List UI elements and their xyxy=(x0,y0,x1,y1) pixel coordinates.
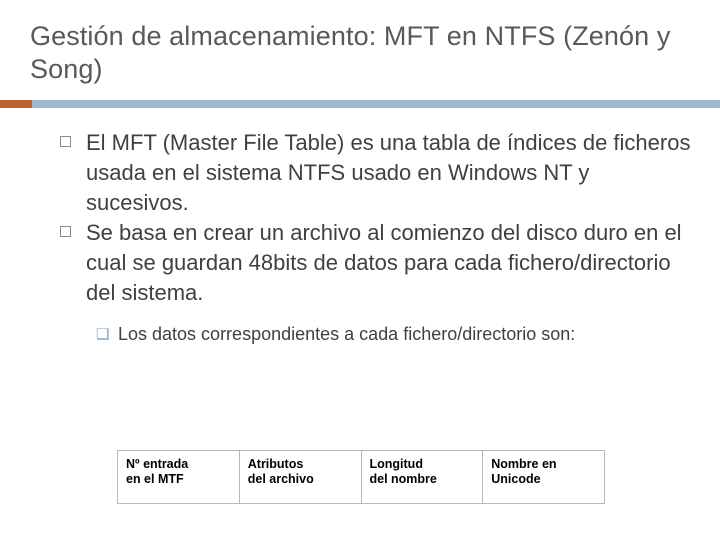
mft-entry-table: Nº entrada en el MTF Atributos del archi… xyxy=(117,450,605,504)
divider-accent-block xyxy=(0,100,32,108)
divider-line xyxy=(32,100,720,108)
divider xyxy=(0,100,720,108)
body-content: El MFT (Master File Table) es una tabla … xyxy=(30,128,695,347)
table-cell-attributes: Atributos del archivo xyxy=(239,451,361,504)
square-outline-bullet-icon xyxy=(60,136,71,147)
page-title: Gestión de almacenamiento: MFT en NTFS (… xyxy=(30,20,680,86)
list-item-text: Se basa en crear un archivo al comienzo … xyxy=(86,220,682,305)
list-item: Se basa en crear un archivo al comienzo … xyxy=(30,218,695,308)
table-cell-unicode-name: Nombre en Unicode xyxy=(483,451,605,504)
list-item-sub: ❑ Los datos correspondientes a cada fich… xyxy=(30,322,695,347)
list-item: El MFT (Master File Table) es una tabla … xyxy=(30,128,695,218)
table-cell-entry-number: Nº entrada en el MTF xyxy=(118,451,240,504)
table-cell-name-length: Longitud del nombre xyxy=(361,451,483,504)
table-row: Nº entrada en el MTF Atributos del archi… xyxy=(118,451,605,504)
diamond-bullet-icon: ❑ xyxy=(96,325,109,345)
list-item-text: El MFT (Master File Table) es una tabla … xyxy=(86,130,690,215)
slide: Gestión de almacenamiento: MFT en NTFS (… xyxy=(0,0,720,540)
list-item-sub-text: Los datos correspondientes a cada ficher… xyxy=(118,324,575,344)
square-outline-bullet-icon xyxy=(60,226,71,237)
